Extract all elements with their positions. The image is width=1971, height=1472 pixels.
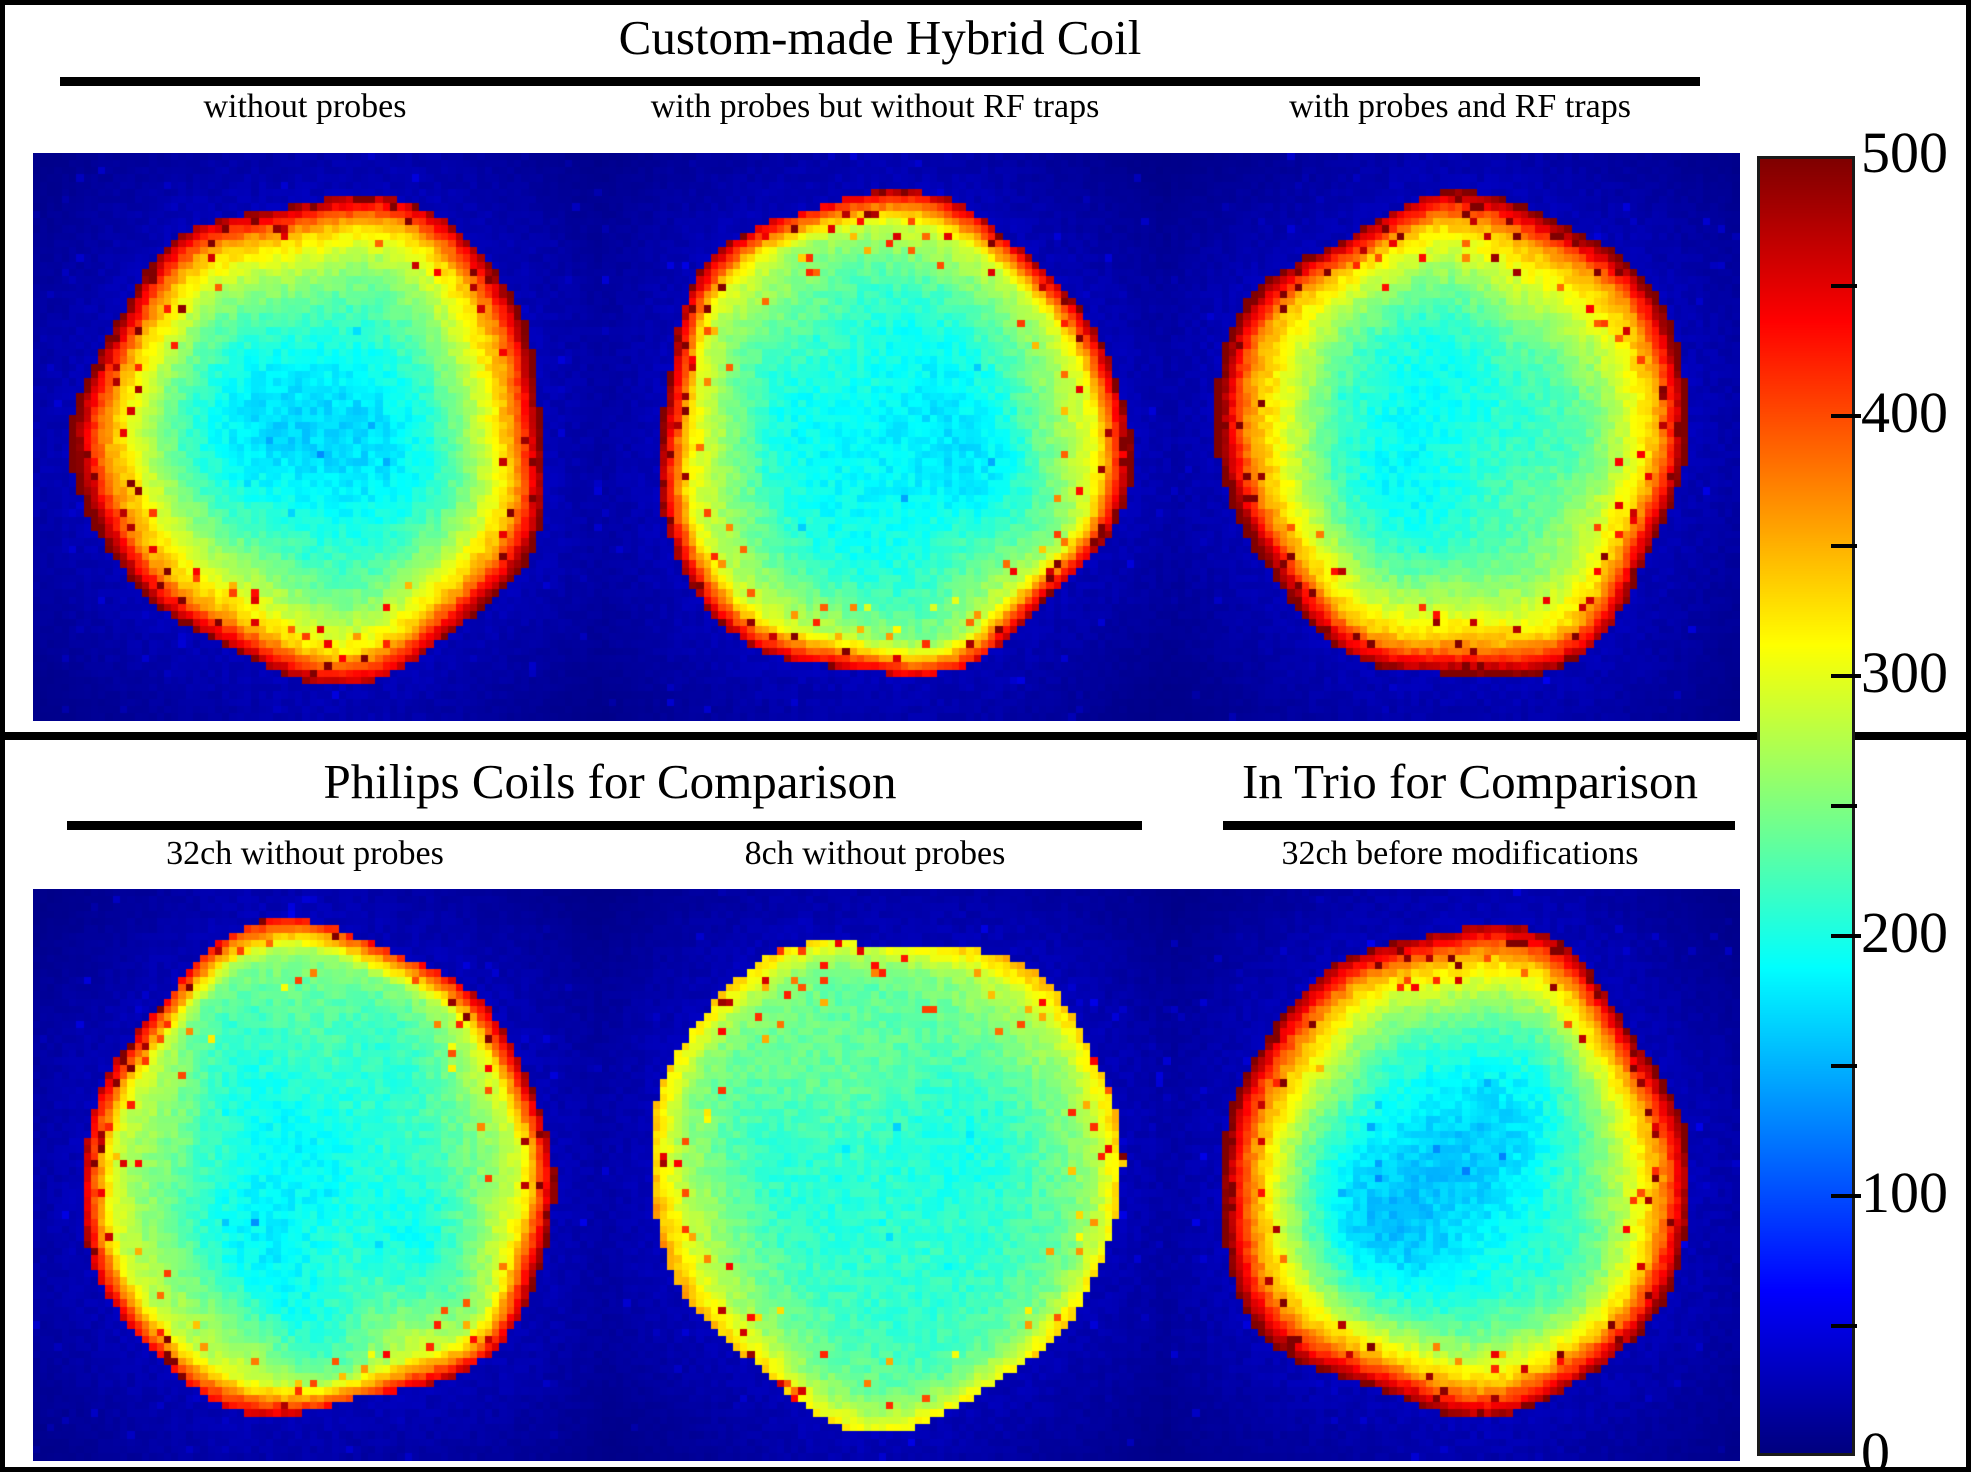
colorbar-major-tick (1831, 674, 1861, 678)
colorbar-minor-tick (1831, 1324, 1857, 1328)
image-row-comparison (33, 889, 1740, 1461)
colorbar-label-0: 0 (1861, 1424, 1890, 1472)
colorbar-label-500: 500 (1861, 124, 1948, 182)
colorbar-minor-tick (1831, 1064, 1857, 1068)
colorbar-major-tick (1831, 934, 1861, 938)
brain-map-philips-8ch (602, 889, 1171, 1461)
panel-label-hybrid-with-probes-and-traps: with probes and RF traps (1180, 90, 1740, 124)
section-rule-custom-hybrid (60, 77, 1700, 86)
panel-label-hybrid-without-probes: without probes (35, 90, 575, 124)
colorbar-major-tick (1831, 414, 1861, 418)
panel-label-hybrid-with-probes-no-traps: with probes but without RF traps (565, 90, 1185, 124)
figure-root: Custom-made Hybrid Coil without probes w… (0, 0, 1971, 1472)
section-title-trio-comparison: In Trio for Comparison (1165, 757, 1775, 806)
section-divider (5, 732, 1966, 740)
panel-label-philips-32ch: 32ch without probes (35, 837, 575, 871)
brain-map-hybrid-with-probes-and-traps (1171, 153, 1740, 721)
brain-map-hybrid-with-probes-no-traps (602, 153, 1171, 721)
image-row-custom-hybrid (33, 153, 1740, 721)
brain-map-hybrid-without-probes (33, 153, 602, 721)
colorbar-minor-tick (1831, 804, 1857, 808)
section-rule-philips-comparison (67, 821, 1142, 830)
colorbar-minor-tick (1831, 284, 1857, 288)
colorbar-minor-tick (1831, 544, 1857, 548)
colorbar-label-200: 200 (1861, 904, 1948, 962)
colorbar: 0100200300400500 (1757, 123, 1962, 1463)
colorbar-label-400: 400 (1861, 384, 1948, 442)
colorbar-label-300: 300 (1861, 644, 1948, 702)
panel-label-philips-8ch: 8ch without probes (605, 837, 1145, 871)
brain-map-trio-32ch (1171, 889, 1740, 1461)
colorbar-major-tick (1831, 1194, 1861, 1198)
colorbar-label-100: 100 (1861, 1164, 1948, 1222)
section-title-philips-comparison: Philips Coils for Comparison (65, 757, 1155, 806)
panel-label-trio-32ch: 32ch before modifications (1180, 837, 1740, 871)
section-rule-trio-comparison (1223, 821, 1735, 830)
brain-map-philips-32ch (33, 889, 602, 1461)
section-title-custom-hybrid: Custom-made Hybrid Coil (35, 13, 1725, 62)
